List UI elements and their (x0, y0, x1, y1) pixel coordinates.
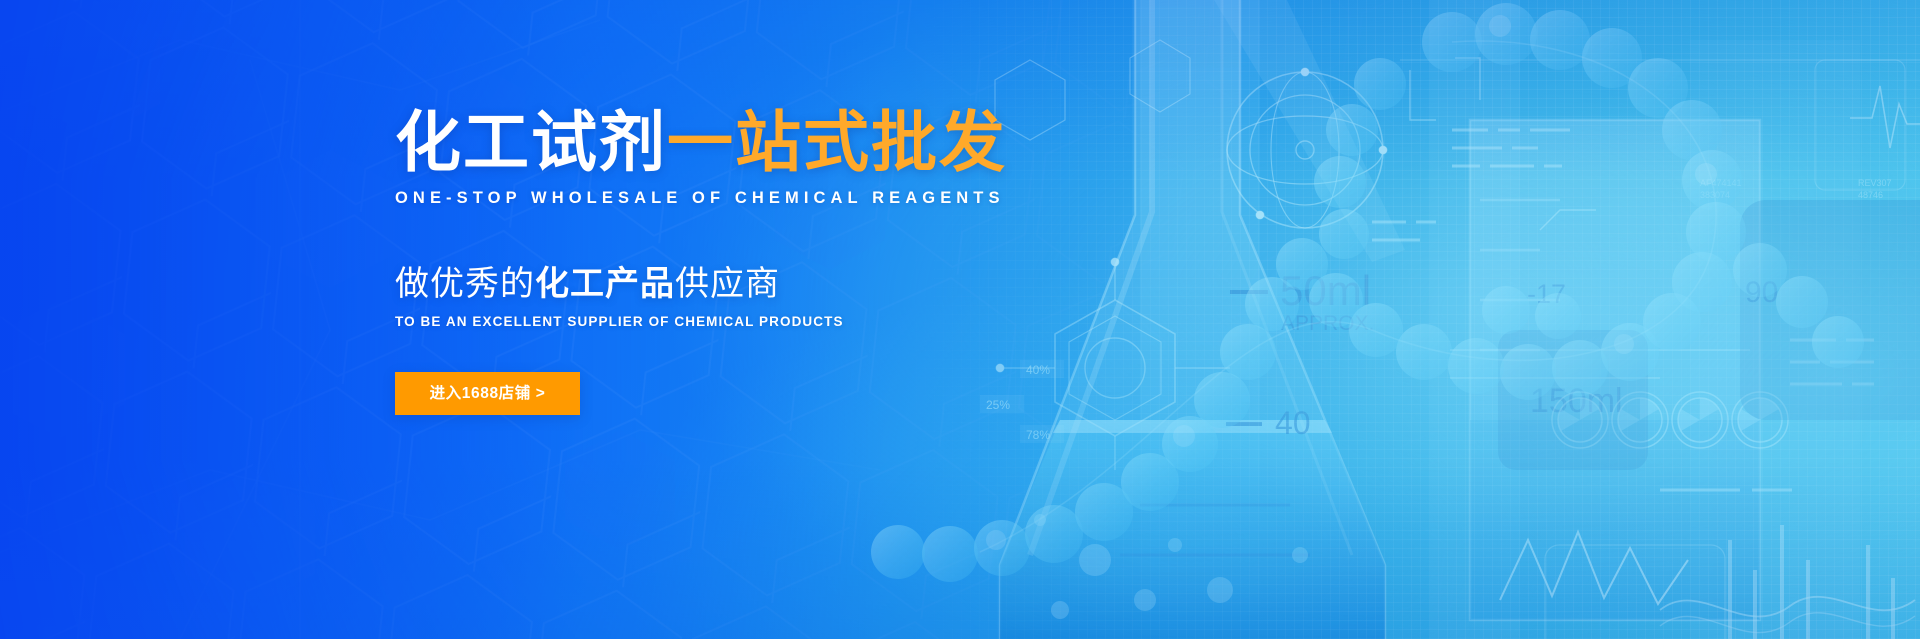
headline-accent: 一站式批发 (667, 105, 1007, 179)
tagline-english: TO BE AN EXCELLENT SUPPLIER OF CHEMICAL … (395, 314, 1135, 329)
enter-1688-store-button[interactable]: 进入1688店铺 > (395, 372, 580, 415)
svg-text:REV307: REV307 (1858, 178, 1892, 188)
svg-text:40: 40 (1275, 405, 1311, 441)
tagline-emphasis: 化工产品 (535, 265, 675, 303)
tagline-lead: 做优秀的 (395, 265, 535, 303)
svg-text:90: 90 (1745, 276, 1778, 309)
svg-text:50ml: 50ml (1280, 267, 1371, 314)
svg-text:383074: 383074 (1700, 190, 1730, 200)
hero-copy: 化工试剂一站式批发 ONE-STOP WHOLESALE OF CHEMICAL… (395, 108, 1135, 415)
headline-primary: 化工试剂 (395, 105, 667, 179)
tagline-trail: 供应商 (675, 265, 780, 303)
svg-text:78%: 78% (1026, 428, 1050, 442)
tagline: 做优秀的化工产品供应商 (395, 256, 1135, 305)
hero-banner: 50ml APPROX. 40 150ml 90 -17 40% 25% 78% (0, 0, 1920, 639)
headline-subtitle-english: ONE-STOP WHOLESALE OF CHEMICAL REAGENTS (395, 189, 1135, 208)
svg-text:APPROX.: APPROX. (1281, 312, 1374, 335)
svg-text:48746: 48746 (1858, 190, 1883, 200)
svg-text:-17: -17 (1527, 279, 1566, 309)
page-title: 化工试剂一站式批发 (395, 108, 1135, 177)
svg-text:AF474141: AF474141 (1700, 178, 1742, 188)
svg-text:150ml: 150ml (1530, 382, 1623, 420)
